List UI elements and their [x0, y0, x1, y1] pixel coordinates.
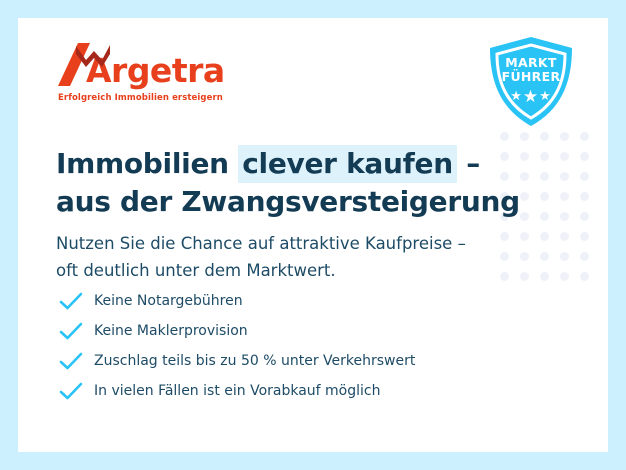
decorative-dot: [580, 252, 589, 261]
brand-tagline: Erfolgreich Immobilien ersteigern: [58, 93, 256, 103]
decorative-dot: [580, 272, 589, 281]
brand-logo[interactable]: Argetra Erfolgreich Immobilien ersteiger…: [56, 40, 256, 103]
subtitle-line-1: Nutzen Sie die Chance auf attraktive Kau…: [56, 234, 466, 253]
benefit-item: In vielen Fällen ist ein Vorabkauf mögli…: [58, 376, 518, 406]
subtitle-line-2: oft deutlich unter dem Marktwert.: [56, 261, 336, 280]
headline-line1-before: Immobilien: [56, 147, 238, 180]
decorative-dot: [500, 132, 509, 141]
argetra-a-mark-icon: [56, 40, 112, 88]
decorative-dot: [520, 132, 529, 141]
headline-highlight: clever kaufen: [238, 145, 457, 183]
decorative-dot: [560, 252, 569, 261]
page-subtitle: Nutzen Sie die Chance auf attraktive Kau…: [56, 230, 546, 284]
promo-card: Argetra Erfolgreich Immobilien ersteiger…: [18, 18, 608, 452]
benefit-label: In vielen Fällen ist ein Vorabkauf mögli…: [94, 383, 381, 399]
headline-line1-after: –: [457, 147, 480, 180]
check-icon: [58, 321, 84, 341]
decorative-dot: [560, 172, 569, 181]
decorative-dot: [560, 152, 569, 161]
decorative-dot: [540, 132, 549, 141]
decorative-dot: [580, 172, 589, 181]
check-icon: [58, 351, 84, 371]
benefit-label: Zuschlag teils bis zu 50 % unter Verkehr…: [94, 353, 415, 369]
page-frame: Argetra Erfolgreich Immobilien ersteiger…: [0, 0, 626, 470]
check-icon: [58, 381, 84, 401]
benefit-list: Keine NotargebührenKeine Maklerprovision…: [58, 286, 518, 406]
decorative-dot: [580, 212, 589, 221]
market-leader-badge: MARKT FÜHRER ★★★: [488, 36, 574, 128]
page-title: Immobilien clever kaufen – aus der Zwang…: [56, 145, 556, 221]
decorative-dot: [560, 192, 569, 201]
decorative-dot: [560, 232, 569, 241]
benefit-label: Keine Maklerprovision: [94, 323, 248, 339]
check-icon: [58, 291, 84, 311]
benefit-item: Zuschlag teils bis zu 50 % unter Verkehr…: [58, 346, 518, 376]
decorative-dot: [560, 212, 569, 221]
decorative-dot: [560, 272, 569, 281]
benefit-item: Keine Maklerprovision: [58, 316, 518, 346]
decorative-dot: [580, 192, 589, 201]
decorative-dot: [580, 132, 589, 141]
benefit-label: Keine Notargebühren: [94, 293, 243, 309]
decorative-dot: [580, 152, 589, 161]
decorative-dot: [560, 132, 569, 141]
decorative-dot: [580, 232, 589, 241]
headline-line2: aus der Zwangsversteigerung: [56, 185, 520, 218]
benefit-item: Keine Notargebühren: [58, 286, 518, 316]
